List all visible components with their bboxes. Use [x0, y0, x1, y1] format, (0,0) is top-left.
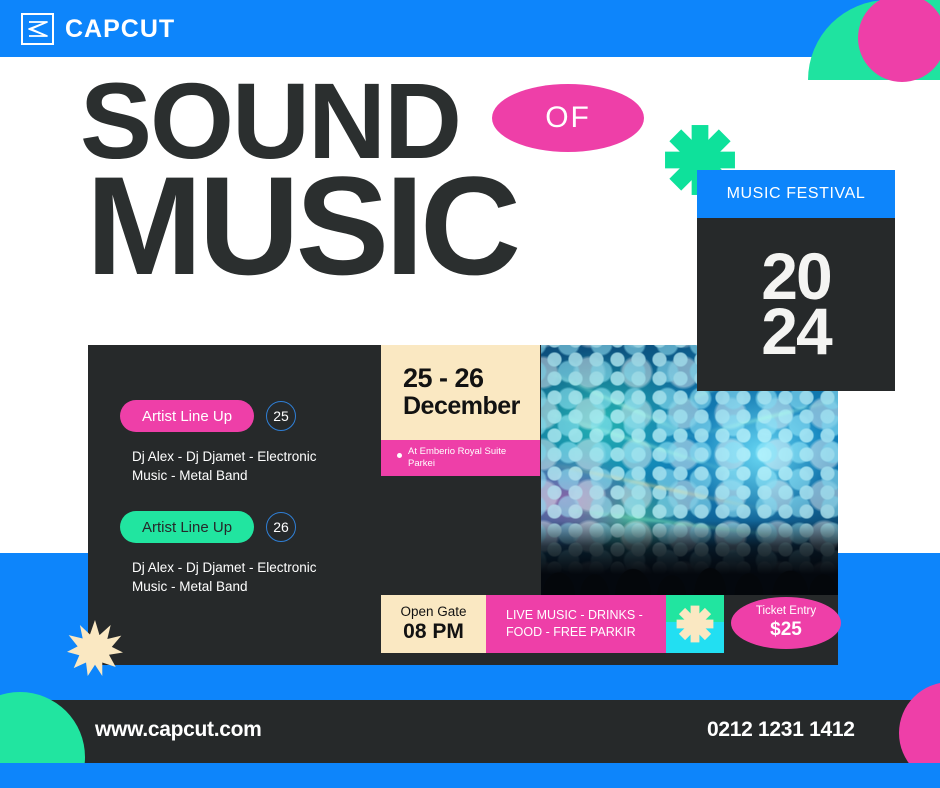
year-bottom: 24 — [761, 304, 830, 358]
event-date-card: 25 - 26 December — [381, 345, 540, 440]
asterisk-badge — [666, 595, 724, 653]
event-venue-text: At Emberio Royal Suite Parkei — [408, 446, 528, 470]
ticket-label: Ticket Entry — [756, 605, 816, 618]
lineup-row: Artist Line Up 25 — [120, 400, 380, 432]
open-gate-label: Open Gate — [400, 604, 466, 620]
footer-phone[interactable]: 0212 1231 1412 — [707, 718, 855, 742]
asterisk-icon — [675, 604, 715, 644]
headline-word-music: MUSIC — [86, 170, 517, 282]
lineup-pill-day-26[interactable]: Artist Line Up — [120, 511, 254, 543]
event-venue-card: At Emberio Royal Suite Parkei — [381, 440, 540, 476]
ticket-price-badge[interactable]: Ticket Entry $25 — [731, 597, 841, 649]
lineup-block-2: Artist Line Up 26 Dj Alex - Dj Djamet - … — [120, 511, 380, 596]
headline-of-badge: OF — [492, 84, 644, 152]
poster-canvas: CAPCUT SOUND OF MUSIC MUSIC FESTIVAL — [0, 0, 940, 788]
footer-website[interactable]: www.capcut.com — [95, 718, 262, 742]
festival-label: MUSIC FESTIVAL — [727, 185, 866, 203]
event-info-strip: Open Gate 08 PM LIVE MUSIC - DRINKS - FO… — [381, 595, 724, 653]
headline-of-label: OF — [545, 101, 591, 135]
brand-name: CAPCUT — [65, 17, 175, 42]
brand-logo[interactable]: CAPCUT — [21, 13, 175, 45]
capcut-bowtie-icon — [21, 13, 54, 45]
year-badge: MUSIC FESTIVAL 20 24 — [697, 170, 895, 391]
event-date-days: 25 - 26 — [403, 364, 540, 393]
ticket-price: $25 — [770, 619, 802, 641]
lineup-artists-26: Dj Alex - Dj Djamet - Electronic Music -… — [132, 558, 347, 596]
lineup-pill-day-25[interactable]: Artist Line Up — [120, 400, 254, 432]
lineup-day-badge-26: 26 — [266, 512, 296, 542]
open-gate-time: 08 PM — [403, 620, 464, 644]
bullet-icon — [397, 453, 402, 458]
lineup-day-badge-25: 25 — [266, 401, 296, 431]
lineup-row: Artist Line Up 26 — [120, 511, 380, 543]
photo-crowd-silhouette — [541, 521, 838, 595]
lineup-artists-25: Dj Alex - Dj Djamet - Electronic Music -… — [132, 447, 347, 485]
open-gate-card: Open Gate 08 PM — [381, 595, 486, 653]
lineup-block-1: Artist Line Up 25 Dj Alex - Dj Djamet - … — [120, 400, 380, 485]
features-card: LIVE MUSIC - DRINKS - FOOD - FREE PARKIR — [486, 595, 666, 653]
event-date-month: December — [403, 393, 540, 421]
starburst-icon — [67, 620, 123, 676]
features-text: LIVE MUSIC - DRINKS - FOOD - FREE PARKIR — [506, 607, 656, 641]
year-block: 20 24 — [697, 218, 895, 391]
page-title: SOUND OF MUSIC — [80, 78, 644, 282]
festival-label-bar: MUSIC FESTIVAL — [697, 170, 895, 218]
top-brand-bar: CAPCUT — [0, 0, 940, 57]
artist-lineup-section: Artist Line Up 25 Dj Alex - Dj Djamet - … — [120, 400, 380, 597]
headline-row-2: MUSIC — [80, 164, 644, 282]
footer-blue-strip — [0, 763, 940, 788]
